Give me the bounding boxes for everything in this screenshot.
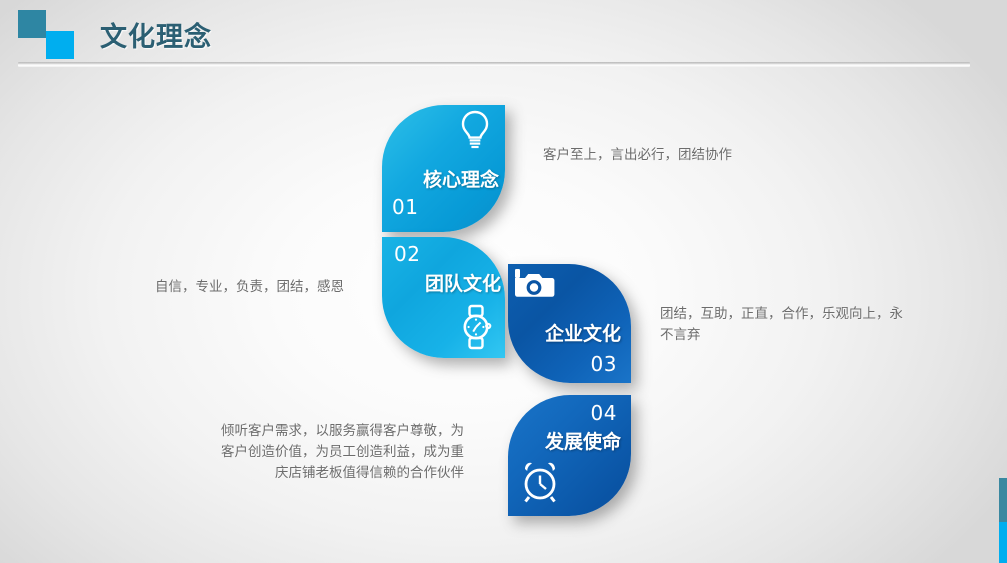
page-title: 文化理念 xyxy=(100,15,212,54)
header-divider xyxy=(18,62,970,67)
petal-number-2: 02 xyxy=(394,242,420,266)
logo-squares xyxy=(18,8,82,58)
petal-number-1: 01 xyxy=(392,195,418,219)
petal-title-2: 团队文化 xyxy=(425,269,501,296)
petal-description-1: 客户至上，言出必行，团结协作 xyxy=(543,145,843,166)
camera-icon xyxy=(512,266,556,304)
lightbulb-icon xyxy=(457,109,493,157)
petal-card-1[interactable]: 核心理念 01 xyxy=(382,105,505,232)
petal-title-1: 核心理念 xyxy=(423,165,499,192)
petal-description-3: 团结，互助，正直，合作，乐观向上，永不言弃 xyxy=(660,304,912,346)
alarm-clock-icon xyxy=(518,460,562,508)
petal-description-2: 自信，专业，负责，团结，感恩 xyxy=(155,277,405,298)
logo-square-dark-icon xyxy=(18,10,46,38)
petal-number-3: 03 xyxy=(591,352,617,376)
petal-title-4: 发展使命 xyxy=(545,427,621,454)
petal-number-4: 04 xyxy=(591,401,617,425)
edge-strip-teal xyxy=(999,478,1007,522)
edge-strip-blue xyxy=(999,522,1007,563)
petal-card-4[interactable]: 发展使命 04 xyxy=(508,395,631,516)
petal-description-4: 倾听客户需求，以服务赢得客户尊敬，为客户创造价值，为员工创造利益，成为重庆店铺老… xyxy=(212,421,464,484)
petal-title-3: 企业文化 xyxy=(545,319,621,346)
logo-square-light-icon xyxy=(46,31,74,59)
slide-canvas: 文化理念 核心理念 01 xyxy=(0,0,1007,563)
petal-card-3[interactable]: 企业文化 03 xyxy=(508,264,631,383)
wristwatch-icon xyxy=(457,304,495,354)
